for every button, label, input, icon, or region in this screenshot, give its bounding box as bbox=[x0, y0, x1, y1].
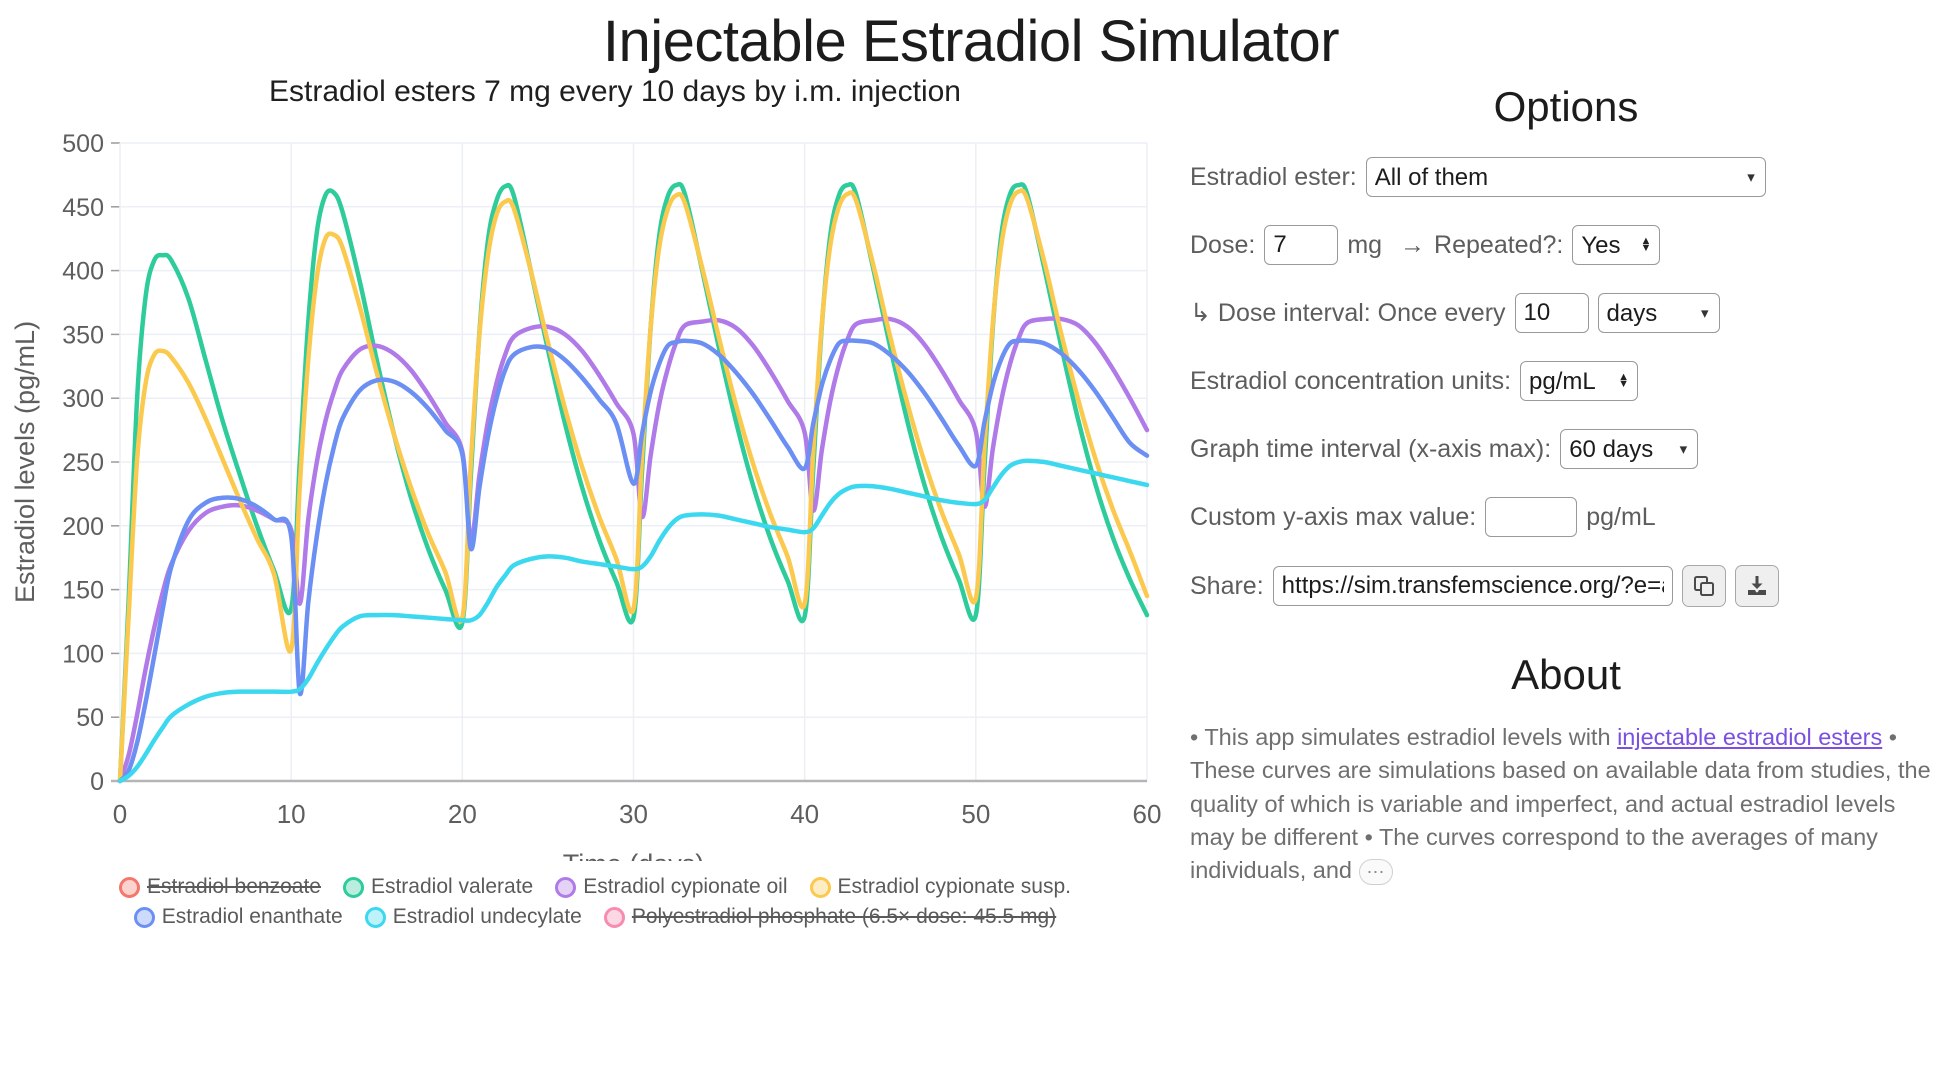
ymax-input[interactable] bbox=[1485, 497, 1577, 537]
y-tick-label: 250 bbox=[62, 449, 104, 477]
estradiol-line-chart: 0501001502002503003504004505000102030405… bbox=[0, 121, 1190, 861]
x-tick-label: 40 bbox=[790, 799, 819, 829]
copy-icon bbox=[1692, 574, 1716, 598]
option-row-interval: ↳ Dose interval: Once every days ▾ bbox=[1190, 293, 1942, 333]
chart-area: 0501001502002503003504004505000102030405… bbox=[0, 121, 1190, 881]
repeated-label: Repeated?: bbox=[1434, 231, 1563, 260]
download-button[interactable] bbox=[1735, 565, 1779, 607]
copy-link-button[interactable] bbox=[1682, 565, 1726, 607]
dose-unit: mg bbox=[1347, 231, 1382, 260]
x-tick-label: 10 bbox=[277, 799, 306, 829]
units-label: Estradiol concentration units: bbox=[1190, 367, 1511, 396]
option-row-units: Estradiol concentration units: pg/mL ▲▼ bbox=[1190, 361, 1942, 401]
y-tick-label: 150 bbox=[62, 577, 104, 605]
main-layout: Estradiol esters 7 mg every 10 days by i… bbox=[0, 75, 1942, 1065]
x-tick-label: 0 bbox=[113, 799, 127, 829]
xmax-label: Graph time interval (x-axis max): bbox=[1190, 435, 1551, 464]
y-tick-label: 450 bbox=[62, 194, 104, 222]
share-url-input[interactable] bbox=[1273, 566, 1673, 606]
options-heading: Options bbox=[1190, 83, 1942, 131]
y-tick-label: 350 bbox=[62, 321, 104, 349]
y-tick-label: 100 bbox=[62, 640, 104, 668]
ymax-label: Custom y-axis max value: bbox=[1190, 503, 1476, 532]
page-title: Injectable Estradiol Simulator bbox=[0, 0, 1942, 75]
legend-color-swatch-icon bbox=[604, 907, 625, 928]
about-text-part-1: • This app simulates estradiol levels wi… bbox=[1190, 724, 1617, 750]
units-select-wrap: pg/mL ▲▼ bbox=[1520, 361, 1638, 401]
y-tick-label: 0 bbox=[90, 768, 104, 796]
dose-label: Dose: bbox=[1190, 231, 1255, 260]
option-row-ester: Estradiol ester: All of them ▾ bbox=[1190, 157, 1942, 197]
option-row-dose: Dose: mg → Repeated?: Yes ▲▼ bbox=[1190, 225, 1942, 265]
x-tick-label: 50 bbox=[961, 799, 990, 829]
x-tick-label: 30 bbox=[619, 799, 648, 829]
interval-input[interactable] bbox=[1515, 293, 1589, 333]
y-tick-label: 500 bbox=[62, 130, 104, 158]
chart-legend: Estradiol benzoateEstradiol valerateEstr… bbox=[0, 875, 1190, 929]
ester-label: Estradiol ester: bbox=[1190, 163, 1357, 192]
injectable-esters-link[interactable]: injectable estradiol esters bbox=[1617, 724, 1882, 750]
legend-item[interactable]: Polyestradiol phosphate (6.5× dose: 45.5… bbox=[604, 905, 1056, 929]
units-select[interactable]: pg/mL bbox=[1520, 361, 1638, 401]
ester-select-wrap: All of them ▾ bbox=[1366, 157, 1766, 197]
legend-color-swatch-icon bbox=[365, 907, 386, 928]
show-more-button[interactable]: ⋯ bbox=[1359, 859, 1393, 885]
dose-input[interactable] bbox=[1264, 225, 1338, 265]
y-tick-label: 50 bbox=[76, 704, 104, 732]
legend-item-label: Estradiol undecylate bbox=[393, 905, 582, 929]
interval-unit-select[interactable]: days bbox=[1598, 293, 1720, 333]
legend-item[interactable]: Estradiol enanthate bbox=[134, 905, 343, 929]
legend-item-label: Estradiol enanthate bbox=[162, 905, 343, 929]
ester-select[interactable]: All of them bbox=[1366, 157, 1766, 197]
legend-row-bottom: Estradiol enanthateEstradiol undecylateP… bbox=[60, 905, 1130, 929]
repeated-select[interactable]: Yes bbox=[1572, 225, 1660, 265]
about-text: • This app simulates estradiol levels wi… bbox=[1190, 721, 1942, 888]
xmax-select[interactable]: 60 days bbox=[1560, 429, 1698, 469]
about-heading: About bbox=[1190, 651, 1942, 699]
legend-color-swatch-icon bbox=[134, 907, 155, 928]
option-row-ymax: Custom y-axis max value: pg/mL bbox=[1190, 497, 1942, 537]
chart-panel: Estradiol esters 7 mg every 10 days by i… bbox=[0, 75, 1190, 929]
chart-title: Estradiol esters 7 mg every 10 days by i… bbox=[0, 75, 1190, 109]
xmax-select-wrap: 60 days ▾ bbox=[1560, 429, 1698, 469]
x-axis-title: Time (days) bbox=[563, 849, 705, 861]
repeated-select-wrap: Yes ▲▼ bbox=[1572, 225, 1660, 265]
arrow-icon: → bbox=[1400, 231, 1425, 260]
y-tick-label: 300 bbox=[62, 385, 104, 413]
x-tick-label: 60 bbox=[1133, 799, 1162, 829]
interval-unit-select-wrap: days ▾ bbox=[1598, 293, 1720, 333]
y-tick-label: 400 bbox=[62, 258, 104, 286]
download-icon bbox=[1745, 574, 1769, 598]
options-panel: Options Estradiol ester: All of them ▾ D… bbox=[1190, 75, 1942, 888]
share-label: Share: bbox=[1190, 572, 1264, 601]
x-tick-label: 20 bbox=[448, 799, 477, 829]
ymax-unit: pg/mL bbox=[1586, 503, 1655, 532]
option-row-xmax: Graph time interval (x-axis max): 60 day… bbox=[1190, 429, 1942, 469]
y-tick-label: 200 bbox=[62, 513, 104, 541]
legend-item-label: Polyestradiol phosphate (6.5× dose: 45.5… bbox=[632, 905, 1056, 929]
interval-label: ↳ Dose interval: Once every bbox=[1190, 298, 1506, 328]
y-axis-title: Estradiol levels (pg/mL) bbox=[10, 321, 40, 603]
option-row-share: Share: bbox=[1190, 565, 1942, 607]
legend-item[interactable]: Estradiol undecylate bbox=[365, 905, 582, 929]
